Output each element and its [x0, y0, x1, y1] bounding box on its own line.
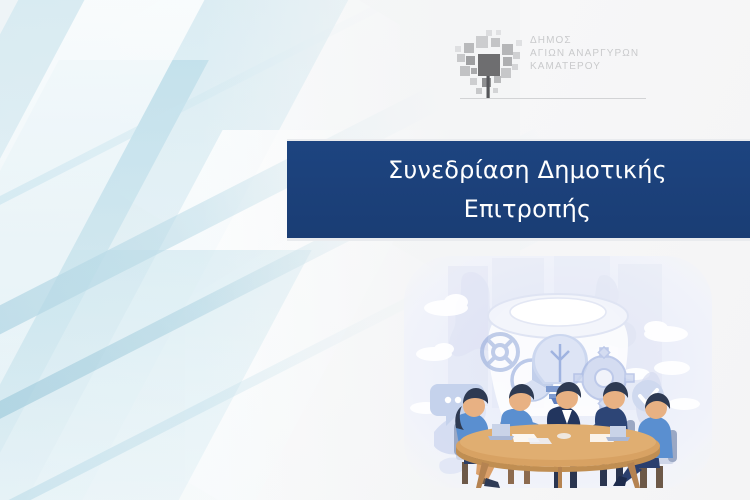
- logo-baseline: [460, 98, 646, 99]
- logo-line-1: ΔΗΜΟΣ: [530, 34, 639, 47]
- title-banner: Συνεδρίαση Δημοτικής Επιτροπής: [287, 139, 750, 241]
- business-meeting-illustration: [404, 256, 712, 488]
- pixel-tree-icon: [452, 26, 526, 104]
- logo-wordmark: ΔΗΜΟΣ ΑΓΙΩΝ ΑΝΑΡΓΥΡΩΝ ΚΑΜΑΤΕΡΟΥ: [530, 34, 639, 73]
- municipality-logo: ΔΗΜΟΣ ΑΓΙΩΝ ΑΝΑΡΓΥΡΩΝ ΚΑΜΑΤΕΡΟΥ: [452, 26, 652, 106]
- banner-line-2: Επιτροπής: [305, 190, 750, 229]
- slide-canvas: ΔΗΜΟΣ ΑΓΙΩΝ ΑΝΑΡΓΥΡΩΝ ΚΑΜΑΤΕΡΟΥ Συνεδρία…: [0, 0, 750, 500]
- illustration-artwork: [404, 256, 712, 488]
- title-banner-text: Συνεδρίαση Δημοτικής Επιτροπής: [287, 151, 750, 229]
- logo-line-2: ΑΓΙΩΝ ΑΝΑΡΓΥΡΩΝ: [530, 47, 639, 60]
- banner-line-1: Συνεδρίαση Δημοτικής: [305, 151, 750, 190]
- logo-line-3: ΚΑΜΑΤΕΡΟΥ: [530, 60, 639, 73]
